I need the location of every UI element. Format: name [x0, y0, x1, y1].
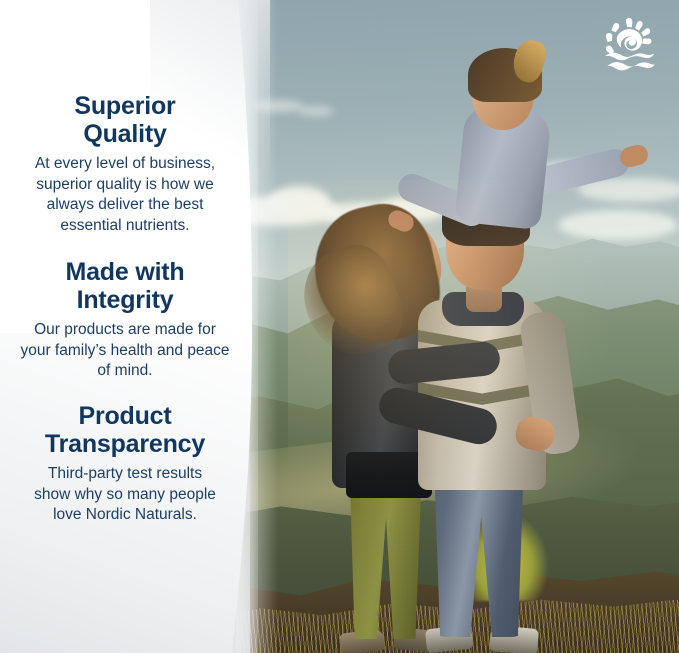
- body-product-transparency: Third-party test results show why so man…: [0, 464, 250, 526]
- heading-made-with-integrity: Made with Integrity: [0, 258, 250, 314]
- heading-line-1: Made with: [65, 258, 184, 286]
- heading-line-2: Quality: [83, 120, 166, 148]
- photo-scene: [228, 0, 679, 653]
- body-made-with-integrity: Our products are made for your family’s …: [0, 320, 250, 382]
- sun-spiral-icon: [617, 29, 642, 51]
- hero-photo: [228, 0, 679, 653]
- heading-line-1: Product: [78, 402, 171, 430]
- brand-values-banner: Superior Quality At every level of busin…: [0, 0, 679, 653]
- body-superior-quality: At every level of business, superior qua…: [0, 154, 250, 236]
- heading-line-1: Superior: [74, 92, 175, 120]
- value-block-superior-quality: Superior Quality At every level of busin…: [0, 92, 250, 236]
- heading-superior-quality: Superior Quality: [0, 92, 250, 148]
- heading-line-2: Transparency: [45, 430, 205, 458]
- sun-wave-logo-icon: [599, 16, 661, 72]
- heading-product-transparency: Product Transparency: [0, 402, 250, 458]
- wave-upper-icon: [605, 53, 654, 61]
- logo-svg: [599, 16, 661, 72]
- value-block-product-transparency: Product Transparency Third-party test re…: [0, 402, 250, 526]
- heading-line-2: Integrity: [77, 286, 174, 314]
- value-propositions: Superior Quality At every level of busin…: [0, 0, 250, 653]
- wave-lower-icon: [607, 62, 655, 70]
- value-block-made-with-integrity: Made with Integrity Our products are mad…: [0, 258, 250, 382]
- family-group: [228, 0, 679, 653]
